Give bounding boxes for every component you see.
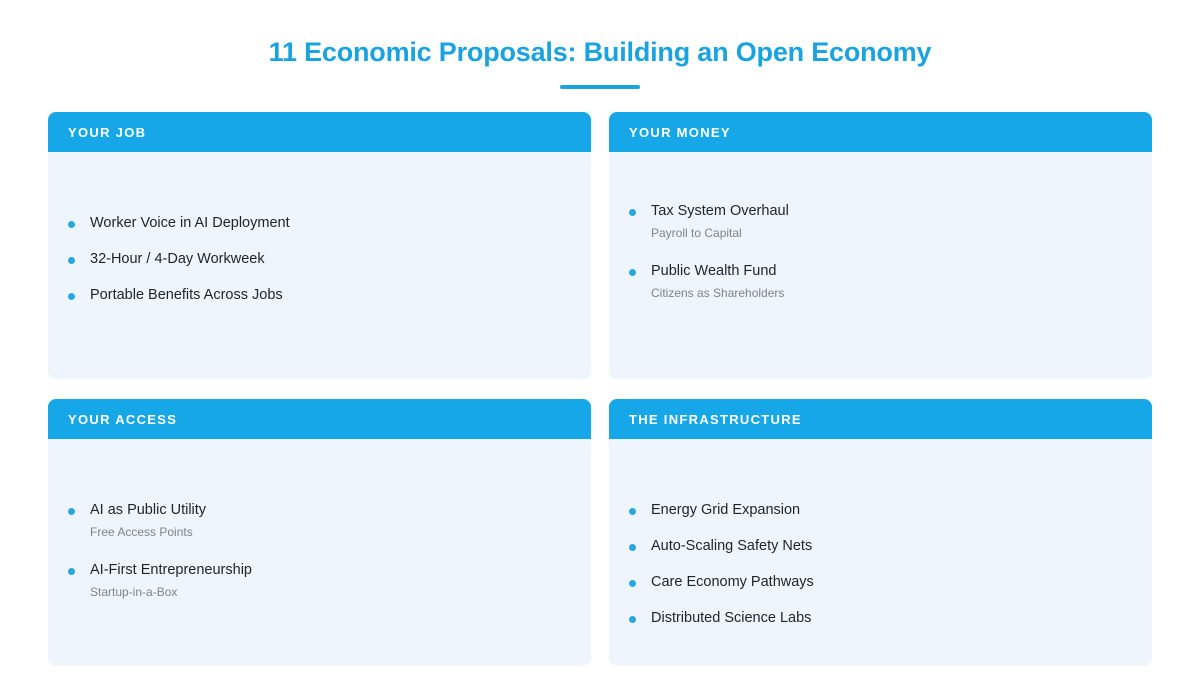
bullet-dot-icon: [629, 544, 636, 551]
card-body-your-money: Tax System Overhaul Payroll to Capital P…: [609, 152, 1152, 378]
bullet-dot-icon: [68, 257, 75, 264]
card-header-label: THE INFRASTRUCTURE: [629, 413, 802, 426]
item-sublabel: Citizens as Shareholders: [651, 286, 784, 302]
item-label: Care Economy Pathways: [651, 573, 814, 592]
item-label: Worker Voice in AI Deployment: [90, 214, 290, 233]
bullet-dot-icon: [629, 508, 636, 515]
item-label: Auto-Scaling Safety Nets: [651, 537, 812, 556]
item-label: Distributed Science Labs: [651, 609, 811, 628]
list-item[interactable]: Public Wealth Fund Citizens as Sharehold…: [629, 262, 1132, 301]
slide-root: 11 Economic Proposals: Building an Open …: [0, 0, 1200, 700]
card-your-access[interactable]: YOUR ACCESS AI as Public Utility Free Ac…: [48, 399, 591, 665]
item-text-wrap: Tax System Overhaul Payroll to Capital: [651, 202, 789, 241]
card-header-label: YOUR JOB: [68, 126, 146, 139]
bullet-dot-icon: [629, 269, 636, 276]
proposal-card-grid: YOUR JOB Worker Voice in AI Deployment 3…: [48, 112, 1152, 672]
title-block: 11 Economic Proposals: Building an Open …: [0, 0, 1200, 89]
card-header-label: YOUR MONEY: [629, 126, 731, 139]
title-underline-rule: [560, 85, 640, 89]
item-text-wrap: AI-First Entrepreneurship Startup-in-a-B…: [90, 561, 252, 600]
item-sublabel: Free Access Points: [90, 525, 206, 541]
bullet-dot-icon: [68, 221, 75, 228]
bullet-dot-icon: [68, 568, 75, 575]
list-item[interactable]: 32-Hour / 4-Day Workweek: [68, 250, 571, 269]
item-text-wrap: Public Wealth Fund Citizens as Sharehold…: [651, 262, 784, 301]
item-label: AI-First Entrepreneurship: [90, 561, 252, 580]
item-text-wrap: AI as Public Utility Free Access Points: [90, 501, 206, 540]
list-item[interactable]: Tax System Overhaul Payroll to Capital: [629, 202, 1132, 241]
card-your-money[interactable]: YOUR MONEY Tax System Overhaul Payroll t…: [609, 112, 1152, 378]
card-header-your-money: YOUR MONEY: [609, 112, 1152, 152]
list-item[interactable]: Distributed Science Labs: [629, 609, 1132, 628]
bullet-dot-icon: [629, 580, 636, 587]
bullet-dot-icon: [68, 508, 75, 515]
bullet-dot-icon: [68, 293, 75, 300]
list-item[interactable]: Portable Benefits Across Jobs: [68, 286, 571, 305]
card-body-the-infrastructure: Energy Grid Expansion Auto-Scaling Safet…: [609, 439, 1152, 665]
proposal-list-the-infrastructure: Energy Grid Expansion Auto-Scaling Safet…: [629, 501, 1132, 627]
item-text-wrap: Portable Benefits Across Jobs: [90, 286, 283, 305]
item-text-wrap: Auto-Scaling Safety Nets: [651, 537, 812, 556]
item-sublabel: Startup-in-a-Box: [90, 585, 252, 601]
proposal-list-your-money: Tax System Overhaul Payroll to Capital P…: [629, 202, 1132, 302]
card-the-infrastructure[interactable]: THE INFRASTRUCTURE Energy Grid Expansion…: [609, 399, 1152, 665]
item-text-wrap: Worker Voice in AI Deployment: [90, 214, 290, 233]
item-label: Tax System Overhaul: [651, 202, 789, 221]
list-item[interactable]: AI as Public Utility Free Access Points: [68, 501, 571, 540]
list-item[interactable]: Worker Voice in AI Deployment: [68, 214, 571, 233]
list-item[interactable]: Energy Grid Expansion: [629, 501, 1132, 520]
card-body-your-access: AI as Public Utility Free Access Points …: [48, 439, 591, 665]
item-text-wrap: Energy Grid Expansion: [651, 501, 800, 520]
card-your-job[interactable]: YOUR JOB Worker Voice in AI Deployment 3…: [48, 112, 591, 378]
list-item[interactable]: Care Economy Pathways: [629, 573, 1132, 592]
item-sublabel: Payroll to Capital: [651, 226, 789, 242]
card-header-the-infrastructure: THE INFRASTRUCTURE: [609, 399, 1152, 439]
card-header-your-access: YOUR ACCESS: [48, 399, 591, 439]
page-title: 11 Economic Proposals: Building an Open …: [0, 36, 1200, 68]
list-item[interactable]: Auto-Scaling Safety Nets: [629, 537, 1132, 556]
bullet-dot-icon: [629, 616, 636, 623]
item-label: Public Wealth Fund: [651, 262, 784, 281]
item-text-wrap: 32-Hour / 4-Day Workweek: [90, 250, 265, 269]
item-label: Energy Grid Expansion: [651, 501, 800, 520]
bullet-dot-icon: [629, 209, 636, 216]
card-header-label: YOUR ACCESS: [68, 413, 177, 426]
card-body-your-job: Worker Voice in AI Deployment 32-Hour / …: [48, 152, 591, 378]
item-label: AI as Public Utility: [90, 501, 206, 520]
proposal-list-your-access: AI as Public Utility Free Access Points …: [68, 501, 571, 601]
item-text-wrap: Care Economy Pathways: [651, 573, 814, 592]
item-label: Portable Benefits Across Jobs: [90, 286, 283, 305]
card-header-your-job: YOUR JOB: [48, 112, 591, 152]
item-label: 32-Hour / 4-Day Workweek: [90, 250, 265, 269]
list-item[interactable]: AI-First Entrepreneurship Startup-in-a-B…: [68, 561, 571, 600]
proposal-list-your-job: Worker Voice in AI Deployment 32-Hour / …: [68, 214, 571, 305]
item-text-wrap: Distributed Science Labs: [651, 609, 811, 628]
